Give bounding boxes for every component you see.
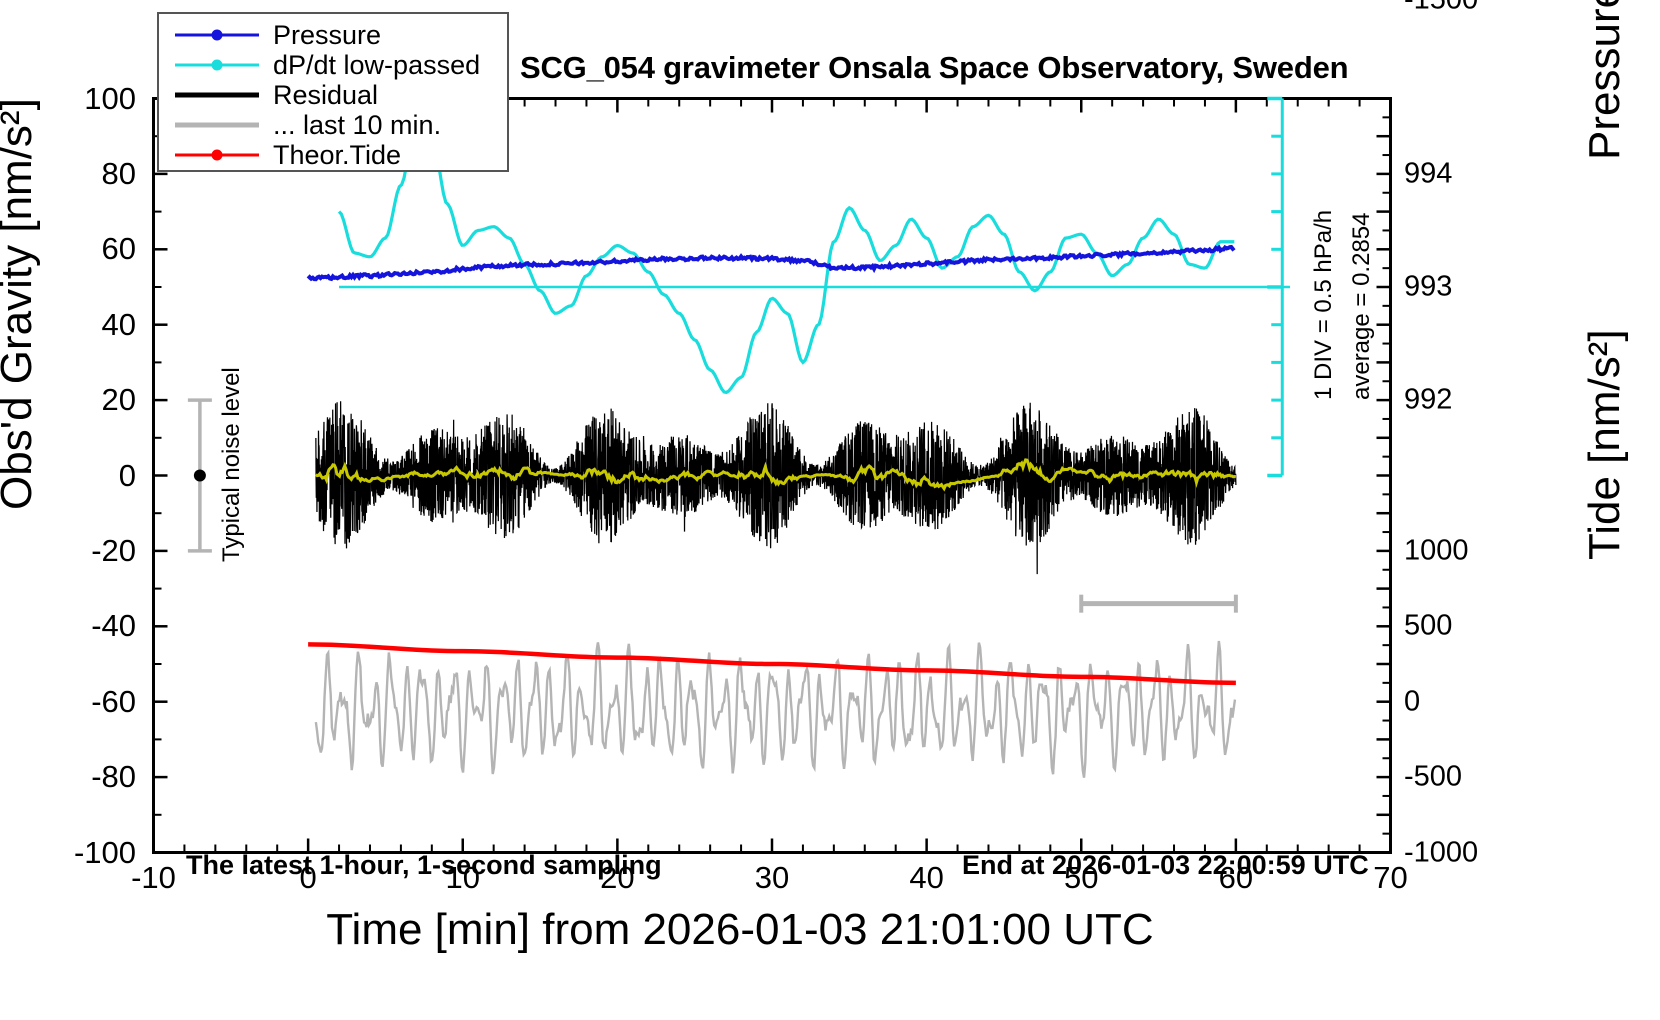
- legend-swatch-icon: [171, 142, 263, 168]
- legend-label: dP/dt low-passed: [263, 50, 480, 81]
- legend-label: Residual: [263, 80, 378, 111]
- y-tick-label: -80: [46, 759, 136, 795]
- legend-label: Pressure: [263, 20, 381, 51]
- dpdt-average-label: average = 0.2854: [1348, 213, 1376, 401]
- legend-swatch-icon: [171, 22, 263, 48]
- legend-swatch-icon: [171, 112, 263, 138]
- legend-item[interactable]: Theor.Tide: [159, 140, 507, 170]
- legend-label: Theor.Tide: [263, 140, 401, 171]
- tide-tick-label: -1500: [1404, 0, 1494, 17]
- legend-swatch-icon: [171, 52, 263, 78]
- sampling-note: The latest 1-hour, 1-second sampling: [186, 850, 662, 881]
- legend-item[interactable]: dP/dt low-passed: [159, 50, 507, 80]
- y-tick-label: 20: [46, 382, 136, 418]
- y-tick-label: 80: [46, 156, 136, 192]
- y-tick-label: 40: [46, 307, 136, 343]
- y-tick-label: 60: [46, 231, 136, 267]
- left-axis-title: Obs'd Gravity [nm/s²]: [0, 98, 42, 510]
- legend-item[interactable]: Pressure: [159, 20, 507, 50]
- y-tick-label: -40: [46, 608, 136, 644]
- legend: PressuredP/dt low-passedResidual... last…: [157, 12, 509, 172]
- gravimeter-plot-page: -100-80-60-40-20020406080100 Obs'd Gravi…: [0, 0, 1660, 1020]
- tide-axis-title: Tide [nm/s²]: [1580, 329, 1630, 560]
- y-tick-label: -20: [46, 533, 136, 569]
- pressure-tick-label: 993: [1404, 271, 1494, 304]
- legend-swatch-icon: [171, 82, 263, 108]
- page-title: SCG_054 gravimeter Onsala Space Observat…: [520, 50, 1348, 86]
- x-axis-title: Time [min] from 2026-01-03 21:01:00 UTC: [0, 905, 1480, 955]
- tide-tick-label: 1000: [1404, 534, 1494, 567]
- y-tick-label: 0: [46, 458, 136, 494]
- noise-level-label: Typical noise level: [218, 367, 246, 562]
- pressure-axis-title: Pressure [hPa]: [1580, 0, 1630, 160]
- legend-item[interactable]: Residual: [159, 80, 507, 110]
- legend-item[interactable]: ... last 10 min.: [159, 110, 507, 140]
- noise-level-center-dot: [194, 470, 206, 482]
- x-tick-label: 30: [712, 860, 832, 896]
- tide-tick-label: 500: [1404, 610, 1494, 643]
- y-tick-label: 100: [46, 81, 136, 117]
- legend-label: ... last 10 min.: [263, 110, 441, 141]
- right-axis-ticks: [1377, 99, 1391, 853]
- end-time-note: End at 2026-01-03 22:00:59 UTC: [962, 850, 1369, 881]
- tide-tick-label: 0: [1404, 685, 1494, 718]
- tide-tick-label: -500: [1404, 761, 1494, 794]
- pressure-tick-label: 992: [1404, 384, 1494, 417]
- dpdt-div-scale-label: 1 DIV = 0.5 hPa/h: [1310, 210, 1338, 400]
- y-tick-label: -60: [46, 684, 136, 720]
- pressure-tick-label: 994: [1404, 157, 1494, 190]
